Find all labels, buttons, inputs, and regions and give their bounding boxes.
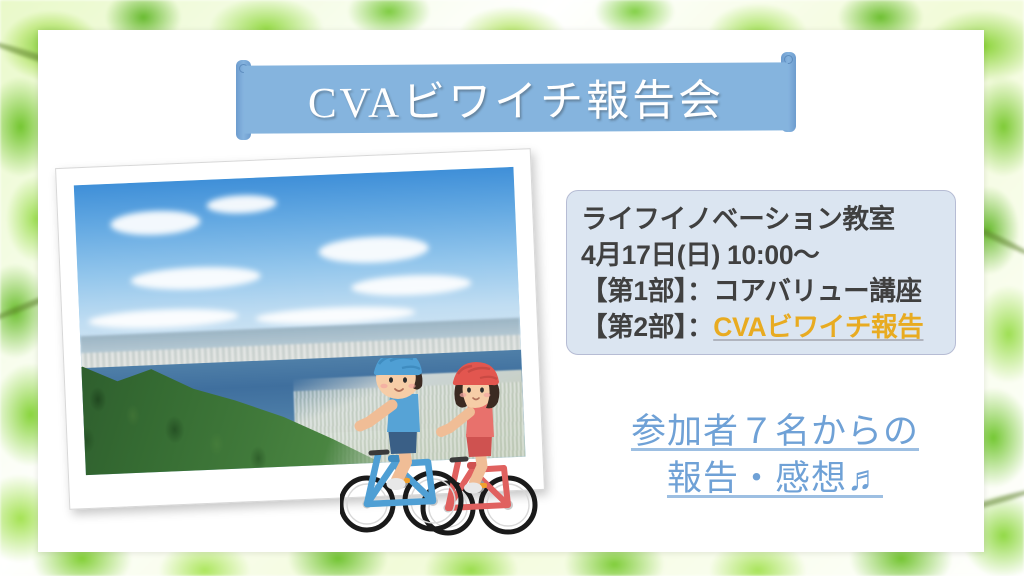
info-line-part2: 【第2部】：CVAビワイチ報告 [581,309,955,345]
page-title: CVAビワイチ報告会 [308,66,725,131]
title-banner: CVAビワイチ報告会 [236,56,796,146]
part2-highlight-link[interactable]: CVAビワイチ報告 [713,312,923,342]
caption-line-1: 参加者７名からの [600,408,950,455]
caption-line-2: 報告・感想♬ [600,455,950,502]
part2-prefix: 【第2部】： [581,312,713,342]
info-line-part1: 【第1部】：コアバリュー講座 [581,273,955,309]
info-line-datetime: 4月17日(日) 10:00〜 [581,237,955,273]
banner-body: CVAビワイチ報告会 [244,62,788,133]
event-info-box: ライフイノベーション教室 4月17日(日) 10:00〜 【第1部】：コアバリュ… [566,190,956,355]
cyclists-illustration [340,358,590,543]
info-line-course: ライフイノベーション教室 [581,201,955,237]
slide-canvas: CVAビワイチ報告会 [0,0,1024,576]
participants-caption: 参加者７名からの 報告・感想♬ [600,408,950,502]
